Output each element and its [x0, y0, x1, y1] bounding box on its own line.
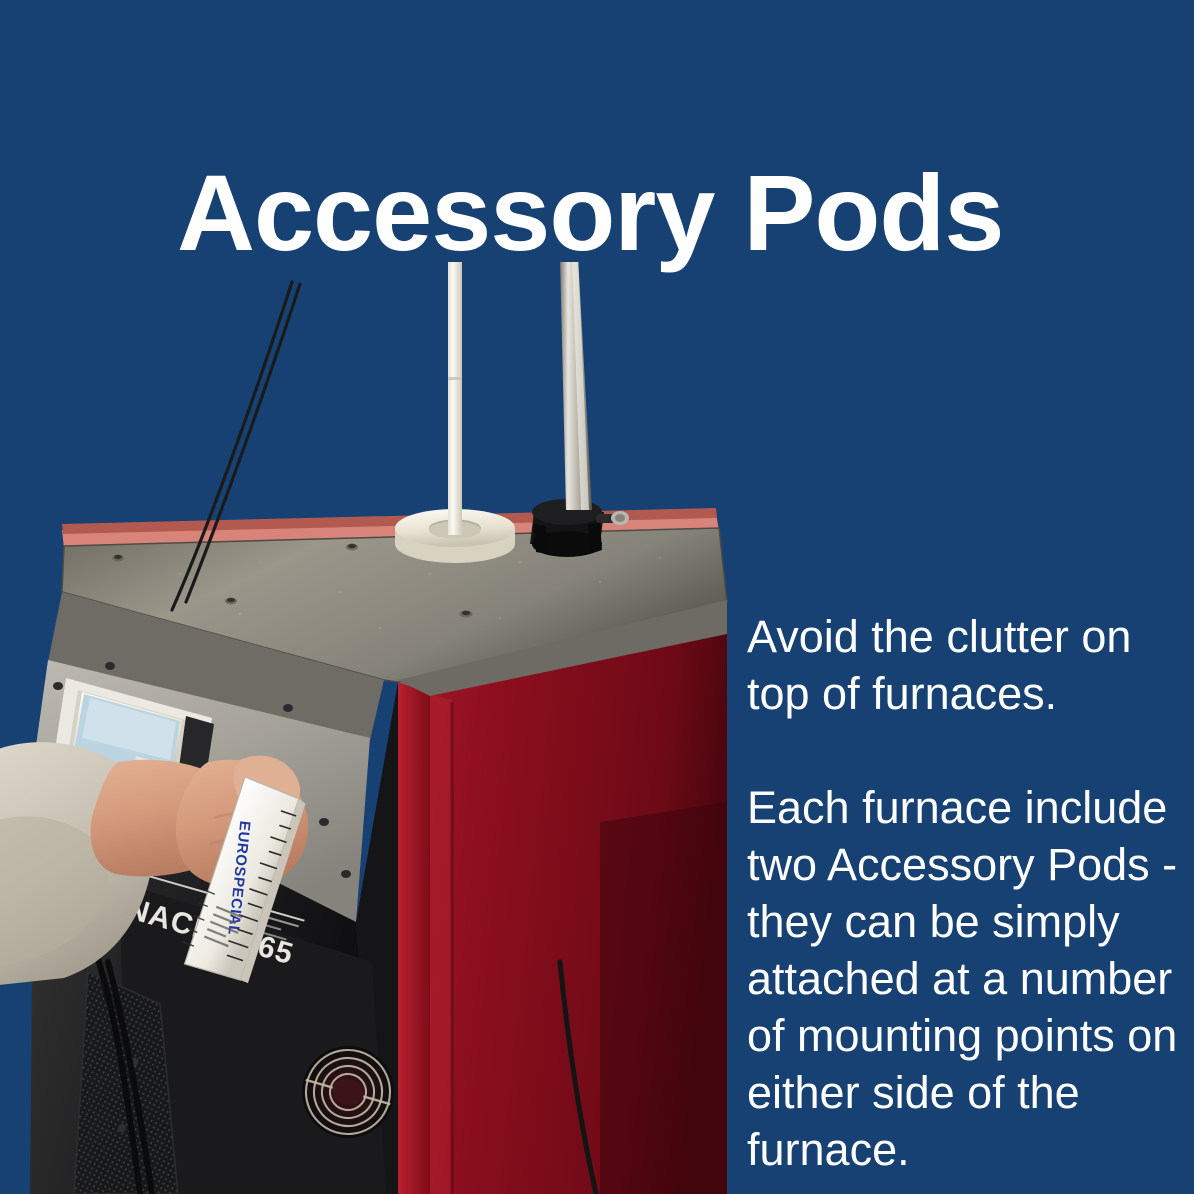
slide-root: Accessory Pods: [0, 0, 1194, 1194]
paragraph-spacer: [747, 722, 1194, 779]
body-paragraph-1: Avoid the clutter on top of furnaces.: [747, 608, 1194, 722]
body-paragraph-2: Each furnace include two Accessory Pods …: [747, 779, 1194, 1178]
body-copy: Avoid the clutter on top of furnaces. Ea…: [747, 608, 1194, 1178]
accessory-pod-clamp: [530, 262, 629, 557]
furnace-photograph: RNACE - 465: [0, 262, 740, 1194]
accessory-pod-ceramic: [395, 262, 515, 563]
page-title: Accessory Pods: [177, 156, 1117, 269]
